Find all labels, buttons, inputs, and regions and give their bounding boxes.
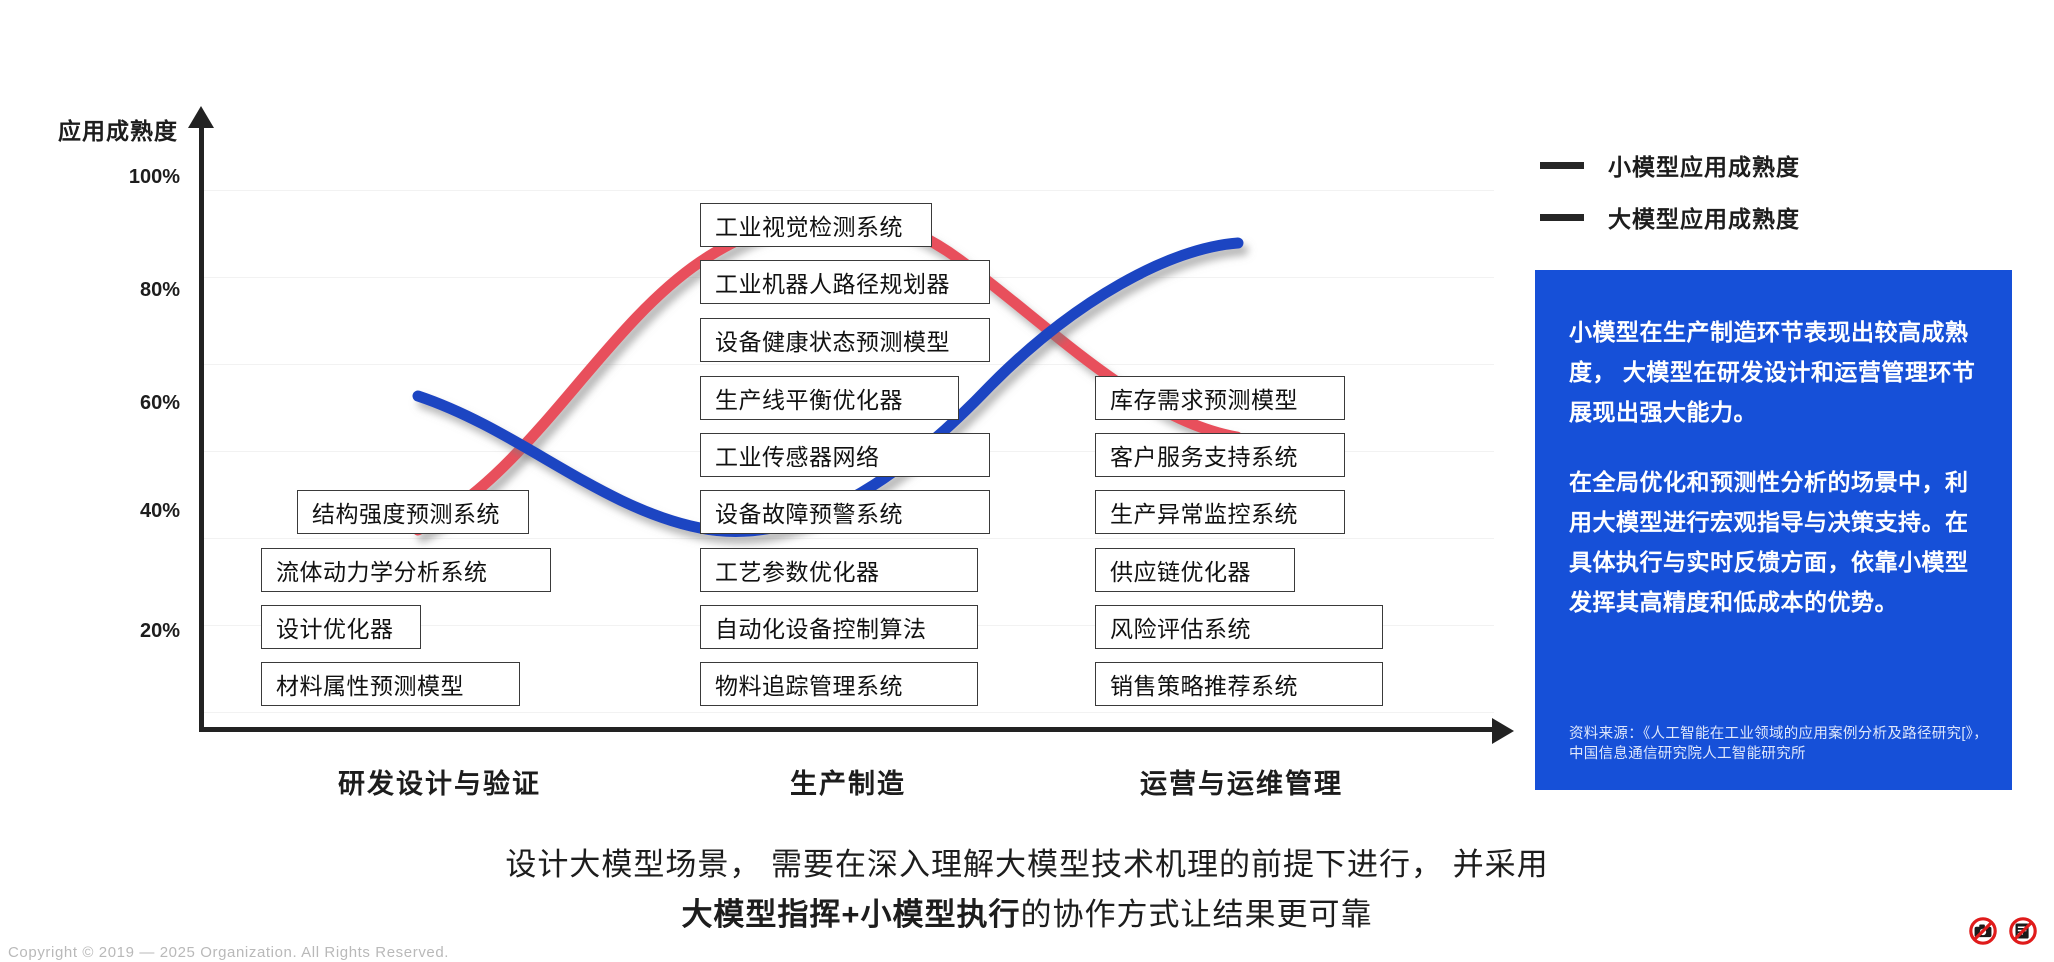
scenario-box[interactable]: 客户服务支持系统 [1095,433,1345,477]
scenario-box[interactable]: 风险评估系统 [1095,605,1383,649]
summary-line-2: 大模型指挥+小模型执行的协作方式让结果更可靠 [0,890,2054,940]
insight-source: 资料来源：《人工智能在工业领域的应用案例分析及路径研究[》，中国信息通信研究院人… [1569,724,1992,764]
legend-swatch-icon [1540,162,1584,169]
scenario-box[interactable]: 供应链优化器 [1095,548,1295,592]
scenario-box[interactable]: 物料追踪管理系统 [700,662,978,706]
scenario-box[interactable]: 销售策略推荐系统 [1095,662,1383,706]
scenario-box[interactable]: 工艺参数优化器 [700,548,978,592]
insight-paragraph-2: 在全局优化和预测性分析的场景中，利用大模型进行宏观指导与决策支持。在具体执行与实… [1569,462,1978,622]
no-camera-icon [1968,916,1998,946]
gridline [204,712,1494,713]
gridline [204,190,1494,191]
y-tick-80: 80% [60,279,180,302]
gridline [204,538,1494,539]
y-axis-line [199,122,204,732]
summary-emphasis: 大模型指挥+小模型执行 [681,897,1020,932]
y-tick-60: 60% [60,392,180,415]
insight-panel: 小模型在生产制造环节表现出较高成熟度， 大模型在研发设计和运营管理环节展现出强大… [1535,270,2012,790]
summary-line-1: 设计大模型场景， 需要在深入理解大模型技术机理的前提下进行， 并采用 [0,840,2054,890]
legend-swatch-icon [1540,214,1584,221]
y-tick-100: 100% [60,166,180,189]
y-tick-40: 40% [60,500,180,523]
no-copy-icon [2008,916,2038,946]
scenario-box[interactable]: 生产异常监控系统 [1095,490,1345,534]
insight-paragraph-1: 小模型在生产制造环节表现出较高成熟度， 大模型在研发设计和运营管理环节展现出强大… [1569,312,1978,432]
legend-label: 大模型应用成熟度 [1608,200,1800,234]
summary-block: 设计大模型场景， 需要在深入理解大模型技术机理的前提下进行， 并采用 大模型指挥… [0,840,2054,940]
x-label-manufacturing: 生产制造 [790,762,906,801]
x-label-operations: 运营与运维管理 [1140,762,1343,801]
scenario-box[interactable]: 流体动力学分析系统 [261,548,551,592]
scenario-box[interactable]: 材料属性预测模型 [261,662,520,706]
x-axis-line [199,727,1497,732]
legend-item-large-model[interactable]: 大模型应用成熟度 [1540,200,1800,234]
y-axis-title: 应用成熟度 [58,112,178,146]
legend-label: 小模型应用成熟度 [1608,148,1800,182]
scenario-box[interactable]: 工业视觉检测系统 [700,203,932,247]
legend-item-small-model[interactable]: 小模型应用成熟度 [1540,148,1800,182]
scenario-box[interactable]: 库存需求预测模型 [1095,376,1345,420]
legend: 小模型应用成熟度 大模型应用成熟度 [1540,148,1800,252]
scenario-box[interactable]: 自动化设备控制算法 [700,605,978,649]
y-tick-20: 20% [60,620,180,643]
scenario-box[interactable]: 设备故障预警系统 [700,490,990,534]
chart-area: 应用成熟度 100% 80% 60% 40% 20% 结构强度预测系统 流体动力… [0,0,1500,800]
copyright-text: Copyright © 2019 — 2025 Organization. Al… [8,944,449,961]
scenario-box[interactable]: 生产线平衡优化器 [700,376,959,420]
summary-line-2-rest: 的协作方式让结果更可靠 [1021,897,1373,932]
scenario-box[interactable]: 工业传感器网络 [700,433,990,477]
scenario-box[interactable]: 设备健康状态预测模型 [700,318,990,362]
scenario-box[interactable]: 工业机器人路径规划器 [700,260,990,304]
restriction-badges [1968,916,2038,946]
scenario-box[interactable]: 结构强度预测系统 [297,490,529,534]
x-label-rd: 研发设计与验证 [338,762,541,801]
scenario-box[interactable]: 设计优化器 [261,605,421,649]
x-axis-arrow [1492,718,1514,744]
gridline [204,364,1494,365]
